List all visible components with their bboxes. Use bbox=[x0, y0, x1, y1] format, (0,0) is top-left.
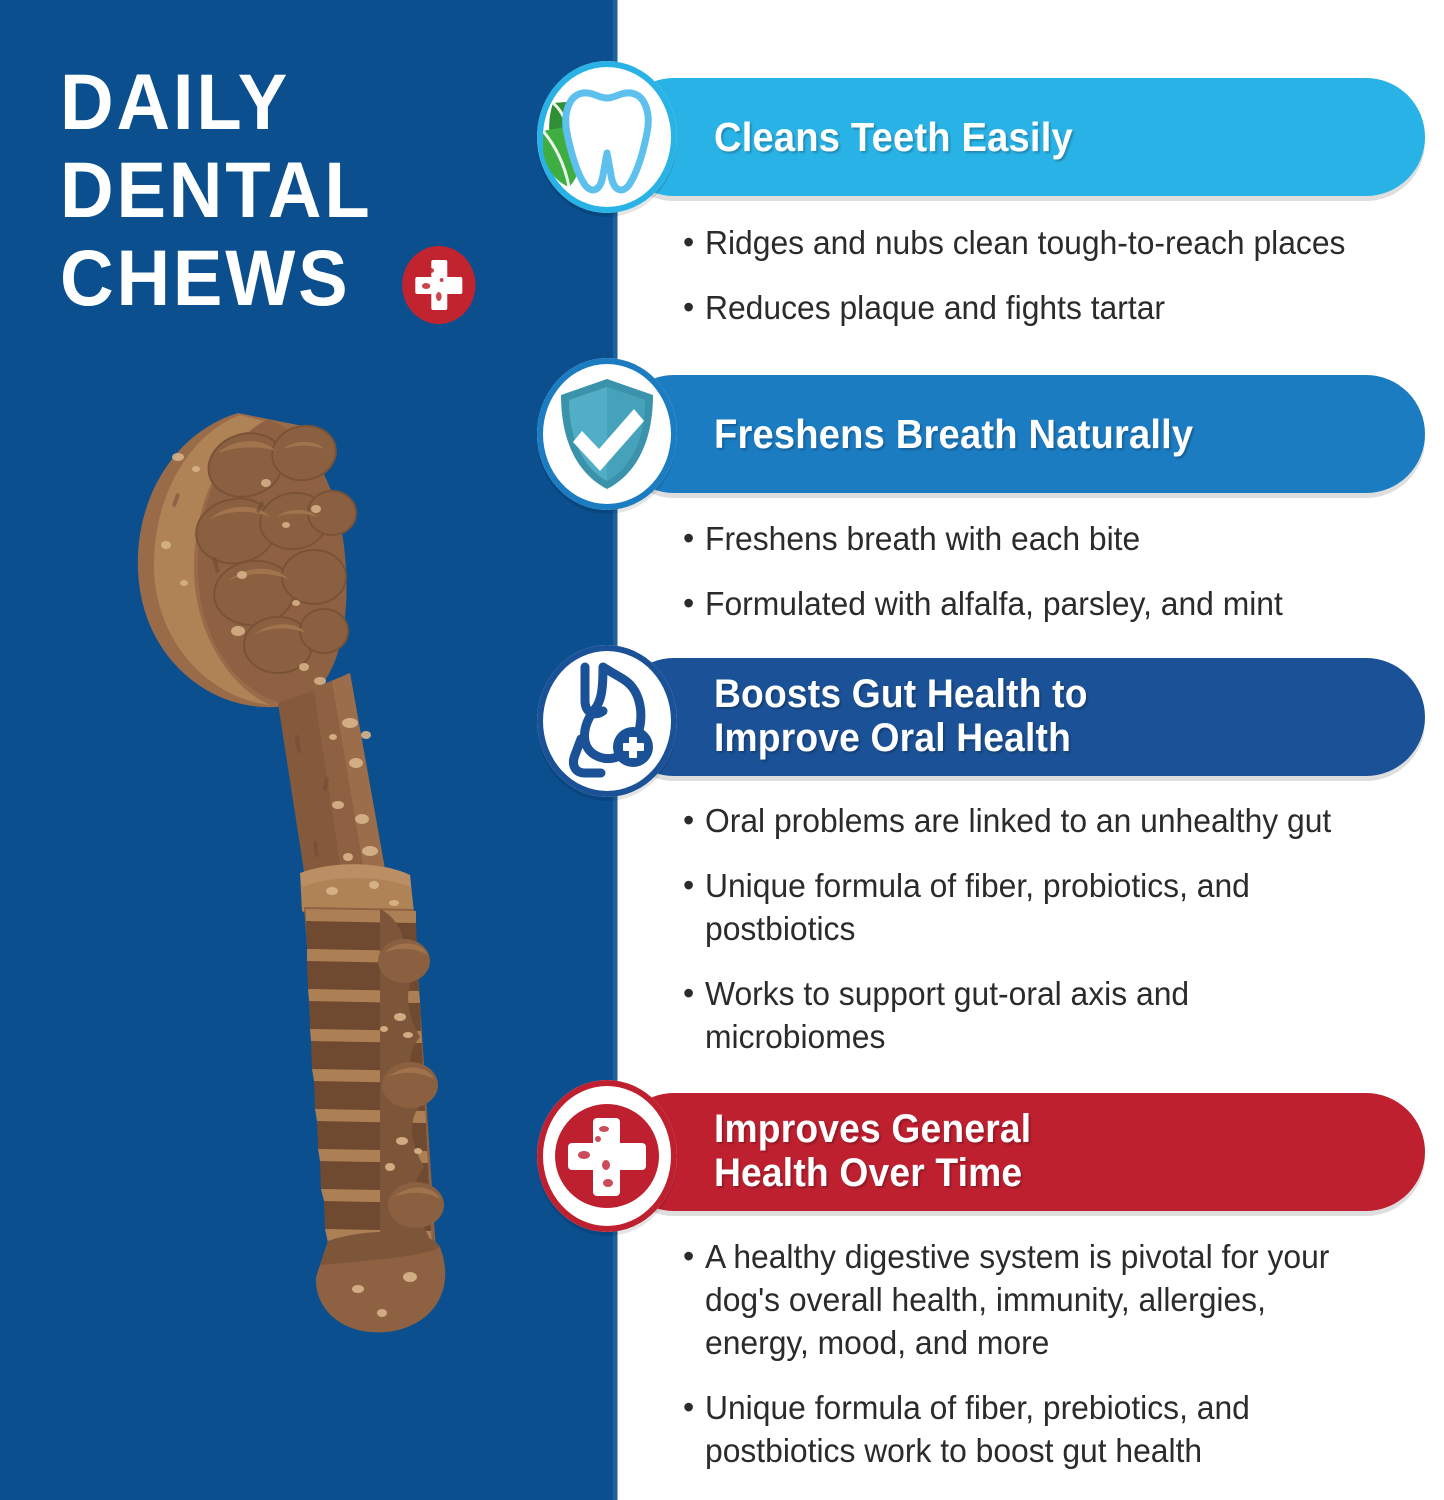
bullet-text: Freshens breath with each bite bbox=[705, 518, 1140, 561]
bullet-text: Unique formula of fiber, probiotics, and… bbox=[705, 865, 1334, 951]
bullet-dot: • bbox=[683, 223, 694, 261]
bullet-text: Formulated with alfalfa, parsley, and mi… bbox=[705, 583, 1283, 626]
bullet-dot: • bbox=[683, 584, 694, 622]
list-item: • A healthy digestive system is pivotal … bbox=[683, 1236, 1443, 1365]
list-item: • Unique formula of fiber, prebiotics, a… bbox=[683, 1387, 1443, 1473]
medical-cross-icon bbox=[537, 1080, 677, 1232]
list-item: • Reduces plaque and fights tartar bbox=[683, 287, 1443, 330]
bullet-dot: • bbox=[683, 288, 694, 326]
heading-text: Improves General Health Over Time bbox=[714, 1107, 1031, 1195]
bullet-text: Reduces plaque and fights tartar bbox=[705, 287, 1165, 330]
bullet-dot: • bbox=[683, 519, 694, 557]
list-item: • Oral problems are linked to an unhealt… bbox=[683, 800, 1443, 843]
bullet-dot: • bbox=[683, 801, 694, 839]
bullet-list-general-health: • A healthy digestive system is pivotal … bbox=[683, 1236, 1443, 1495]
infographic-page: DAILY DENTAL CHEWS bbox=[0, 0, 1444, 1500]
list-item: • Works to support gut-oral axis and mic… bbox=[683, 973, 1443, 1059]
bullet-dot: • bbox=[683, 866, 694, 904]
heading-pill-cleans-teeth: Cleans Teeth Easily bbox=[615, 78, 1425, 196]
list-item: • Formulated with alfalfa, parsley, and … bbox=[683, 583, 1443, 626]
heading-pill-general-health: Improves General Health Over Time bbox=[615, 1093, 1425, 1211]
bullet-dot: • bbox=[683, 1237, 694, 1275]
heading-text: Boosts Gut Health to Improve Oral Health bbox=[714, 672, 1088, 760]
heading-pill-gut-health: Boosts Gut Health to Improve Oral Health bbox=[615, 658, 1425, 776]
bullet-dot: • bbox=[683, 974, 694, 1012]
list-item: • Freshens breath with each bite bbox=[683, 518, 1443, 561]
tooth-mint-icon bbox=[537, 61, 677, 213]
bullet-text: A healthy digestive system is pivotal fo… bbox=[705, 1236, 1340, 1365]
stomach-plus-icon bbox=[537, 645, 677, 797]
feature-sections: Cleans Teeth Easily bbox=[0, 0, 1444, 1500]
bullet-list-freshens-breath: • Freshens breath with each bite • Formu… bbox=[683, 518, 1443, 648]
list-item: • Unique formula of fiber, probiotics, a… bbox=[683, 865, 1443, 951]
list-item: • Ridges and nubs clean tough-to-reach p… bbox=[683, 222, 1443, 265]
bullet-list-gut-health: • Oral problems are linked to an unhealt… bbox=[683, 800, 1443, 1081]
bullet-list-cleans-teeth: • Ridges and nubs clean tough-to-reach p… bbox=[683, 222, 1443, 352]
bullet-text: Ridges and nubs clean tough-to-reach pla… bbox=[705, 222, 1345, 265]
bullet-text: Works to support gut-oral axis and micro… bbox=[705, 973, 1275, 1059]
heading-text: Cleans Teeth Easily bbox=[714, 115, 1073, 160]
shield-check-icon bbox=[537, 358, 677, 510]
bullet-text: Unique formula of fiber, prebiotics, and… bbox=[705, 1387, 1332, 1473]
heading-pill-freshens-breath: Freshens Breath Naturally bbox=[615, 375, 1425, 493]
bullet-dot: • bbox=[683, 1388, 694, 1426]
heading-text: Freshens Breath Naturally bbox=[714, 412, 1193, 457]
bullet-text: Oral problems are linked to an unhealthy… bbox=[705, 800, 1331, 843]
